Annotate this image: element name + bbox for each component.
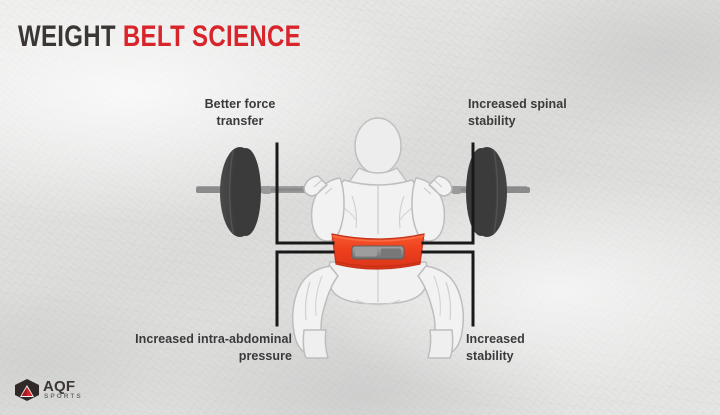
- callout-increased-intra-abdominal-pressure: Increased intra-abdominal pressure: [84, 331, 292, 365]
- leader-line-better-force-transfer: [277, 144, 333, 243]
- infographic-canvas: WEIGHT BELT SCIENCE: [0, 0, 720, 415]
- callout-increased-spinal-stability: Increased spinal stability: [468, 96, 618, 130]
- aqf-logo-wordmark: AQF: [43, 379, 75, 394]
- aqf-logo-tagline: SPORTS: [44, 393, 83, 401]
- aqf-logo-mark: [14, 378, 40, 402]
- callout-increased-stability: Increased stability: [466, 331, 596, 365]
- aqf-sports-logo: AQF SPORTS: [14, 378, 106, 404]
- callout-better-force-transfer: Better force transfer: [180, 96, 300, 130]
- leader-line-increased-spinal-stability: [423, 144, 473, 243]
- leader-line-increased-intra-abdominal-pressure: [277, 252, 333, 325]
- leader-line-increased-stability: [423, 252, 473, 325]
